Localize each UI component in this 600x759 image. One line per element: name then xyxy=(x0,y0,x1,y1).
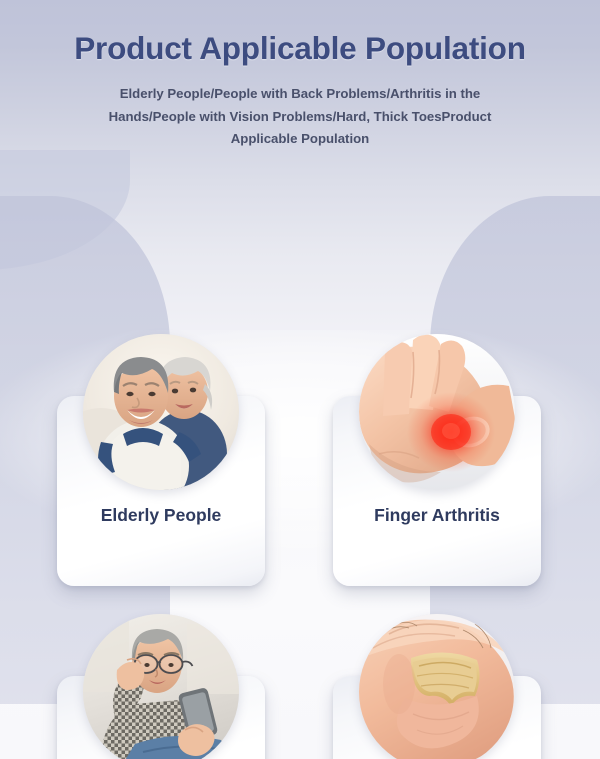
vision-problems-photo xyxy=(83,614,239,759)
elderly-couple-photo xyxy=(83,334,239,490)
page-title: Product Applicable Population xyxy=(0,30,600,67)
population-card-vision-problems[interactable]: People with Vision Problems xyxy=(55,614,267,759)
page-subtitle: Elderly People/People with Back Problems… xyxy=(75,83,525,151)
card-label: Finger Arthritis xyxy=(333,504,541,526)
population-card-finger-arthritis[interactable]: Finger Arthritis xyxy=(331,334,543,594)
thick-toenail-photo xyxy=(359,614,515,759)
arthritic-hand-photo xyxy=(359,334,515,490)
population-card-hard-thick-toes[interactable]: Hard, Thick Toes xyxy=(331,614,543,759)
population-card-elderly-people[interactable]: Elderly People xyxy=(55,334,267,594)
poster-header: Product Applicable Population Elderly Pe… xyxy=(0,0,600,151)
decorative-blob-top-left xyxy=(0,150,130,270)
card-label: Elderly People xyxy=(57,504,265,526)
product-applicable-population-poster: Product Applicable Population Elderly Pe… xyxy=(0,0,600,759)
